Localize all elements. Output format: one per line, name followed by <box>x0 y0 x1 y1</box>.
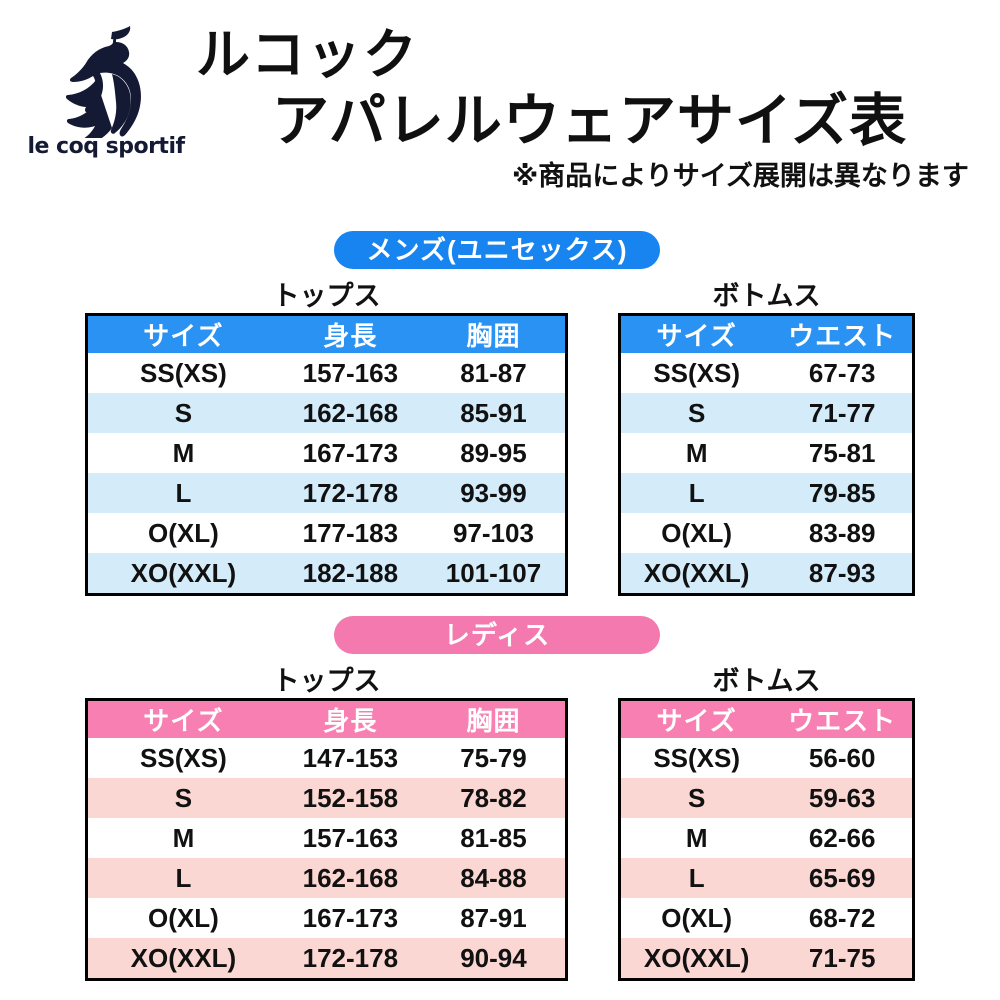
table-row: SS(XS) 157-163 81-87 <box>88 353 565 393</box>
table-row: S 59-63 <box>621 778 912 818</box>
table-row: SS(XS) 56-60 <box>621 738 912 778</box>
cell-size: O(XL) <box>621 513 772 553</box>
table-row: M 75-81 <box>621 433 912 473</box>
table-row: O(XL) 68-72 <box>621 898 912 938</box>
section-pill-women: レディス <box>334 616 660 654</box>
table-header-row: サイズ 身長 胸囲 <box>88 316 565 353</box>
table-row: O(XL) 177-183 97-103 <box>88 513 565 553</box>
col-header-chest: 胸囲 <box>422 316 565 353</box>
table-men-bottoms: サイズ ウエスト SS(XS) 67-73 S 71-77 M 75-81 <box>618 313 915 596</box>
col-header-size: サイズ <box>88 701 279 738</box>
col-header-height: 身長 <box>279 701 422 738</box>
cell-waist: 75-81 <box>772 433 912 473</box>
cell-height: 177-183 <box>279 513 422 553</box>
table-header-row: サイズ ウエスト <box>621 316 912 353</box>
cell-chest: 81-87 <box>422 353 565 393</box>
cell-height: 172-178 <box>279 473 422 513</box>
cell-waist: 68-72 <box>772 898 912 938</box>
cell-size: O(XL) <box>621 898 772 938</box>
cell-size: M <box>88 818 279 858</box>
cell-height: 182-188 <box>279 553 422 593</box>
cell-chest: 97-103 <box>422 513 565 553</box>
table-women-tops: サイズ 身長 胸囲 SS(XS) 147-153 75-79 S 152-158… <box>85 698 568 981</box>
cell-waist: 79-85 <box>772 473 912 513</box>
cell-chest: 90-94 <box>422 938 565 978</box>
col-header-size: サイズ <box>88 316 279 353</box>
table-row: L 162-168 84-88 <box>88 858 565 898</box>
cell-chest: 84-88 <box>422 858 565 898</box>
cell-height: 162-168 <box>279 858 422 898</box>
table-row: SS(XS) 147-153 75-79 <box>88 738 565 778</box>
table-row: M 62-66 <box>621 818 912 858</box>
brand-wordmark: le coq sportif <box>22 134 190 159</box>
cell-height: 172-178 <box>279 938 422 978</box>
cell-size: M <box>621 433 772 473</box>
cell-waist: 62-66 <box>772 818 912 858</box>
size-chart-page: le coq sportif ルコック アパレルウェアサイズ表 ※商品によりサイ… <box>0 0 1000 1000</box>
cell-size: XO(XXL) <box>88 938 279 978</box>
table-label-men-tops: トップス <box>85 283 568 310</box>
cell-chest: 101-107 <box>422 553 565 593</box>
cell-size: S <box>621 778 772 818</box>
cell-size: L <box>88 858 279 898</box>
cell-size: XO(XXL) <box>621 553 772 593</box>
page-subtitle: ※商品によりサイズ展開は異なります <box>512 163 969 190</box>
table-row: O(XL) 167-173 87-91 <box>88 898 565 938</box>
table-row: XO(XXL) 172-178 90-94 <box>88 938 565 978</box>
cell-size: SS(XS) <box>621 738 772 778</box>
section-pill-men: メンズ(ユニセックス) <box>334 231 660 269</box>
col-header-waist: ウエスト <box>772 701 912 738</box>
cell-waist: 71-77 <box>772 393 912 433</box>
cell-size: XO(XXL) <box>88 553 279 593</box>
cell-waist: 56-60 <box>772 738 912 778</box>
table-header-row: サイズ ウエスト <box>621 701 912 738</box>
cell-size: O(XL) <box>88 898 279 938</box>
table-header-row: サイズ 身長 胸囲 <box>88 701 565 738</box>
table-row: L 65-69 <box>621 858 912 898</box>
cell-size: SS(XS) <box>88 738 279 778</box>
table-row: XO(XXL) 87-93 <box>621 553 912 593</box>
table-row: M 157-163 81-85 <box>88 818 565 858</box>
cell-chest: 78-82 <box>422 778 565 818</box>
table-row: SS(XS) 67-73 <box>621 353 912 393</box>
cell-height: 157-163 <box>279 353 422 393</box>
cell-waist: 83-89 <box>772 513 912 553</box>
page-title-line2: アパレルウェアサイズ表 <box>272 93 907 150</box>
brand-logo: le coq sportif <box>22 26 190 172</box>
cell-size: M <box>88 433 279 473</box>
cell-height: 167-173 <box>279 898 422 938</box>
cell-waist: 87-93 <box>772 553 912 593</box>
cell-chest: 89-95 <box>422 433 565 473</box>
cell-height: 147-153 <box>279 738 422 778</box>
cell-chest: 75-79 <box>422 738 565 778</box>
cell-size: L <box>621 858 772 898</box>
table-label-women-tops: トップス <box>85 668 568 695</box>
cell-height: 167-173 <box>279 433 422 473</box>
table-women-bottoms: サイズ ウエスト SS(XS) 56-60 S 59-63 M 62-66 <box>618 698 915 981</box>
cell-height: 157-163 <box>279 818 422 858</box>
cell-size: XO(XXL) <box>621 938 772 978</box>
table-label-women-bottoms: ボトムス <box>618 668 915 695</box>
cell-height: 152-158 <box>279 778 422 818</box>
col-header-chest: 胸囲 <box>422 701 565 738</box>
cell-size: L <box>88 473 279 513</box>
cell-chest: 85-91 <box>422 393 565 433</box>
col-header-waist: ウエスト <box>772 316 912 353</box>
cell-size: SS(XS) <box>88 353 279 393</box>
cell-size: S <box>88 393 279 433</box>
cell-chest: 87-91 <box>422 898 565 938</box>
cell-waist: 59-63 <box>772 778 912 818</box>
cell-size: S <box>621 393 772 433</box>
cell-waist: 65-69 <box>772 858 912 898</box>
cell-size: L <box>621 473 772 513</box>
table-row: S 152-158 78-82 <box>88 778 565 818</box>
col-header-size: サイズ <box>621 316 772 353</box>
col-header-size: サイズ <box>621 701 772 738</box>
cell-height: 162-168 <box>279 393 422 433</box>
rooster-logo-icon <box>50 26 160 138</box>
cell-chest: 81-85 <box>422 818 565 858</box>
table-row: S 162-168 85-91 <box>88 393 565 433</box>
table-row: S 71-77 <box>621 393 912 433</box>
table-row: XO(XXL) 182-188 101-107 <box>88 553 565 593</box>
cell-size: SS(XS) <box>621 353 772 393</box>
col-header-height: 身長 <box>279 316 422 353</box>
cell-chest: 93-99 <box>422 473 565 513</box>
cell-waist: 67-73 <box>772 353 912 393</box>
table-row: M 167-173 89-95 <box>88 433 565 473</box>
table-row: L 172-178 93-99 <box>88 473 565 513</box>
page-title-line1: ルコック <box>196 28 419 82</box>
table-row: L 79-85 <box>621 473 912 513</box>
table-men-tops: サイズ 身長 胸囲 SS(XS) 157-163 81-87 S 162-168… <box>85 313 568 596</box>
table-row: XO(XXL) 71-75 <box>621 938 912 978</box>
table-row: O(XL) 83-89 <box>621 513 912 553</box>
cell-size: M <box>621 818 772 858</box>
cell-waist: 71-75 <box>772 938 912 978</box>
cell-size: S <box>88 778 279 818</box>
cell-size: O(XL) <box>88 513 279 553</box>
table-label-men-bottoms: ボトムス <box>618 283 915 310</box>
